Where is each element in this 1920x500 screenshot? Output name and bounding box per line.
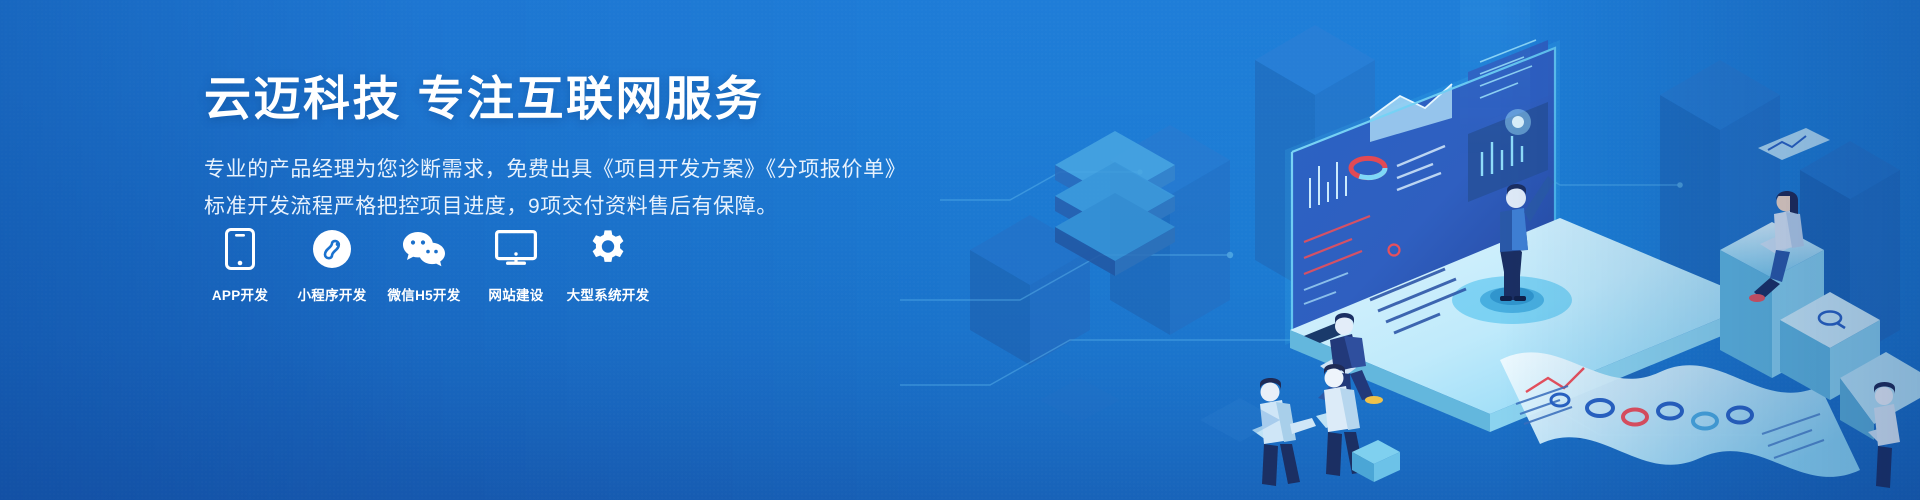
hero-banner: 云迈科技 专注互联网服务 专业的产品经理为您诊断需求，免费出具《项目开发方案》《… bbox=[0, 0, 1920, 500]
far-right-figure bbox=[1868, 382, 1900, 488]
background-skyline-blocks bbox=[970, 25, 1900, 440]
seated-figure-laptop bbox=[1318, 313, 1383, 412]
service-icon-row: APP开发 小程序开发 bbox=[204, 228, 644, 304]
mobile-phone-icon bbox=[225, 228, 255, 270]
dashboard-screen bbox=[1285, 40, 1560, 345]
magnifier-icon bbox=[1819, 312, 1845, 329]
service-item-app[interactable]: APP开发 bbox=[204, 228, 276, 304]
hero-copy: 云迈科技 专注互联网服务 专业的产品经理为您诊断需求，免费出具《项目开发方案》《… bbox=[204, 72, 924, 226]
monitor-icon bbox=[495, 228, 537, 270]
gear-icon bbox=[588, 228, 628, 270]
glow-accents bbox=[1040, 0, 1530, 442]
woman-on-pedestal-laptop bbox=[1749, 128, 1830, 302]
service-label: 网站建设 bbox=[488, 284, 543, 304]
service-label: APP开发 bbox=[212, 284, 268, 304]
pedestal-blocks bbox=[1720, 222, 1920, 440]
service-item-website[interactable]: 网站建设 bbox=[480, 228, 552, 304]
standing-figure bbox=[1490, 176, 1554, 305]
page-title: 云迈科技 专注互联网服务 bbox=[204, 72, 924, 126]
data-ribbon bbox=[1500, 352, 1860, 477]
server-stack bbox=[1055, 131, 1175, 276]
isometric-illustration bbox=[900, 0, 1920, 500]
hero-subtitle: 专业的产品经理为您诊断需求，免费出具《项目开发方案》《分项报价单》 标准开发流程… bbox=[204, 152, 924, 226]
service-item-large-system[interactable]: 大型系统开发 bbox=[572, 228, 644, 304]
mini-program-icon bbox=[312, 228, 352, 270]
tablet-device bbox=[1290, 218, 1760, 432]
service-label: 微信H5开发 bbox=[387, 284, 460, 304]
data-bubble bbox=[1758, 128, 1830, 160]
subtitle-line-1: 专业的产品经理为您诊断需求，免费出具《项目开发方案》《分项报价单》 bbox=[204, 152, 924, 189]
service-label: 大型系统开发 bbox=[567, 284, 650, 304]
service-item-wechat-h5[interactable]: 微信H5开发 bbox=[388, 228, 460, 304]
service-label: 小程序开发 bbox=[298, 284, 367, 304]
two-figures-foreground bbox=[1252, 364, 1400, 486]
circuit-lines bbox=[900, 150, 1800, 435]
service-item-mini-program[interactable]: 小程序开发 bbox=[296, 228, 368, 304]
wechat-bubbles-icon bbox=[402, 228, 446, 270]
subtitle-line-2: 标准开发流程严格把控项目进度，9项交付资料售后有保障。 bbox=[204, 189, 924, 226]
